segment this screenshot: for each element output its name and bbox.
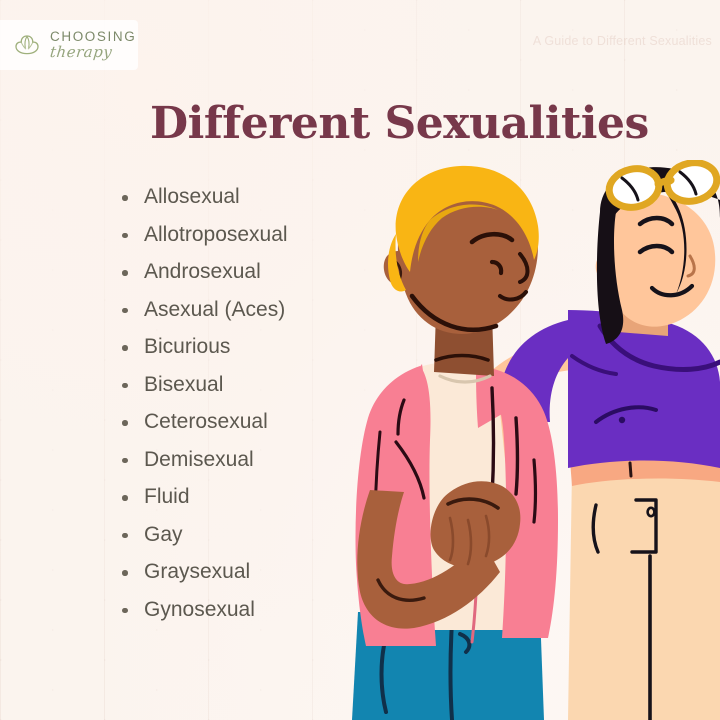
list-item: Allosexual bbox=[118, 178, 378, 216]
list-item: Gynosexual bbox=[118, 591, 378, 629]
list-item: Allotroposexual bbox=[118, 216, 378, 254]
brand-wordmark: CHOOSING therapy bbox=[50, 30, 136, 60]
list-item: Ceterosexual bbox=[118, 403, 378, 441]
list-item: Graysexual bbox=[118, 553, 378, 591]
sexualities-list: Allosexual Allotroposexual Androsexual A… bbox=[118, 178, 378, 628]
page-title: Different Sexualities bbox=[150, 98, 649, 149]
list-item: Bicurious bbox=[118, 328, 378, 366]
brand-logo[interactable]: CHOOSING therapy bbox=[0, 20, 138, 70]
lotus-leaf-icon bbox=[12, 30, 42, 60]
list-item: Fluid bbox=[118, 478, 378, 516]
corner-tagline: A Guide to Different Sexualities bbox=[533, 34, 712, 48]
infographic-canvas: CHOOSING therapy A Guide to Different Se… bbox=[0, 0, 720, 720]
list-item: Gay bbox=[118, 516, 378, 554]
list-item: Androsexual bbox=[118, 253, 378, 291]
list-item: Asexual (Aces) bbox=[118, 291, 378, 329]
brand-name-top: CHOOSING bbox=[50, 30, 136, 44]
person-left bbox=[352, 166, 558, 720]
list-item: Bisexual bbox=[118, 366, 378, 404]
list-item: Demisexual bbox=[118, 441, 378, 479]
brand-name-bottom: therapy bbox=[49, 45, 137, 60]
